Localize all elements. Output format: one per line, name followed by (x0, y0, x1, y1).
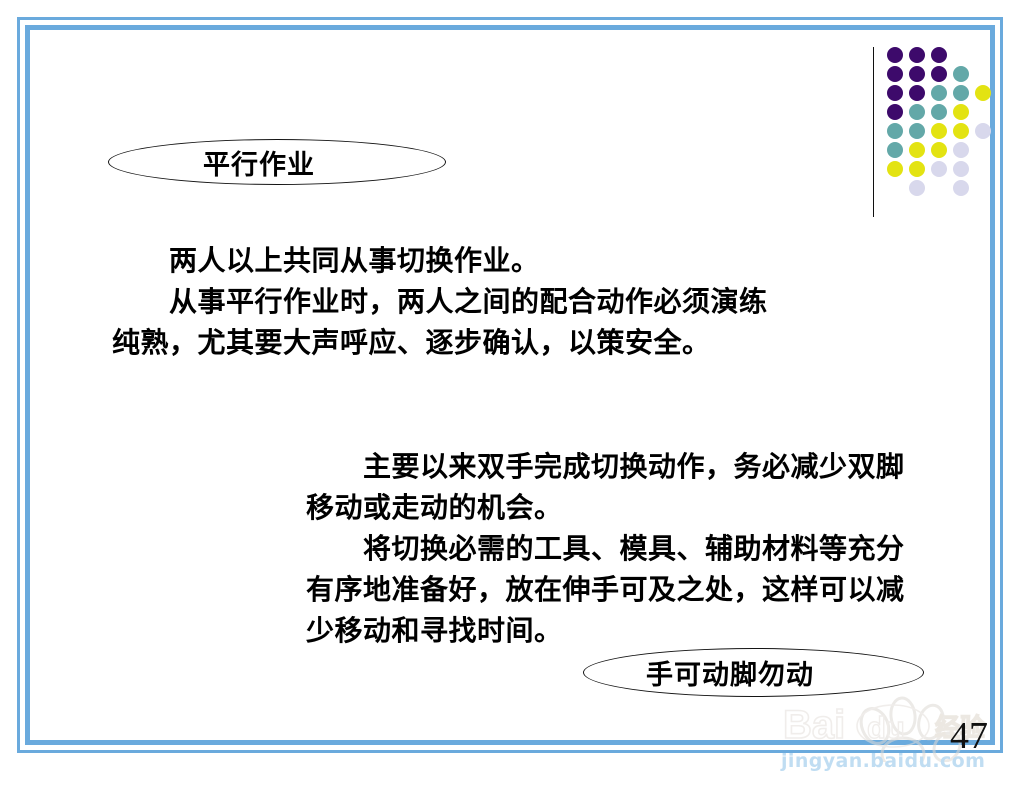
callout-top-label: 平行作业 (203, 143, 315, 182)
body-paragraph-one: 两人以上共同从事切换作业。 从事平行作业时，两人之间的配合动作必须演练纯熟，尤其… (112, 240, 792, 363)
decoration-dot (931, 142, 947, 158)
decoration-dot (975, 85, 991, 101)
decoration-dot (909, 104, 925, 120)
decoration-dot (887, 104, 903, 120)
decoration-dot (953, 104, 969, 120)
decoration-dot (909, 66, 925, 82)
decoration-dot (909, 161, 925, 177)
decoration-dot (887, 85, 903, 101)
svg-text:du: du (867, 710, 905, 745)
decoration-dot (931, 161, 947, 177)
decoration-dot (909, 47, 925, 63)
decoration-dot (931, 66, 947, 82)
decoration-dot (887, 142, 903, 158)
decoration-dot (931, 104, 947, 120)
decoration-dot (931, 47, 947, 63)
dot-decoration (873, 44, 1013, 224)
decoration-dot (931, 85, 947, 101)
decoration-dot (909, 180, 925, 196)
decoration-dot (887, 123, 903, 139)
vertical-rule (873, 47, 874, 217)
callout-bottom-label: 手可动脚勿动 (646, 653, 814, 692)
decoration-dot (909, 142, 925, 158)
decoration-dot (953, 161, 969, 177)
page-number: 47 (950, 714, 988, 758)
decoration-dot (975, 123, 991, 139)
decoration-dot (887, 161, 903, 177)
callout-ellipse-bottom: 手可动脚勿动 (583, 648, 924, 697)
decoration-dot (887, 66, 903, 82)
callout-ellipse-top: 平行作业 (108, 139, 446, 185)
decoration-dot (909, 123, 925, 139)
decoration-dot (931, 123, 947, 139)
decoration-dot (909, 85, 925, 101)
slide-canvas: 平行作业 两人以上共同从事切换作业。 从事平行作业时，两人之间的配合动作必须演练… (0, 0, 1030, 790)
svg-text:Bai: Bai (783, 703, 845, 747)
decoration-dot (953, 85, 969, 101)
decoration-dot (887, 47, 903, 63)
body-paragraph-two: 主要以来双手完成切换动作，务必减少双脚移动或走动的机会。 将切换必需的工具、模具… (306, 446, 916, 651)
decoration-dot (953, 66, 969, 82)
decoration-dot (953, 180, 969, 196)
decoration-dot (953, 123, 969, 139)
decoration-dot (953, 142, 969, 158)
